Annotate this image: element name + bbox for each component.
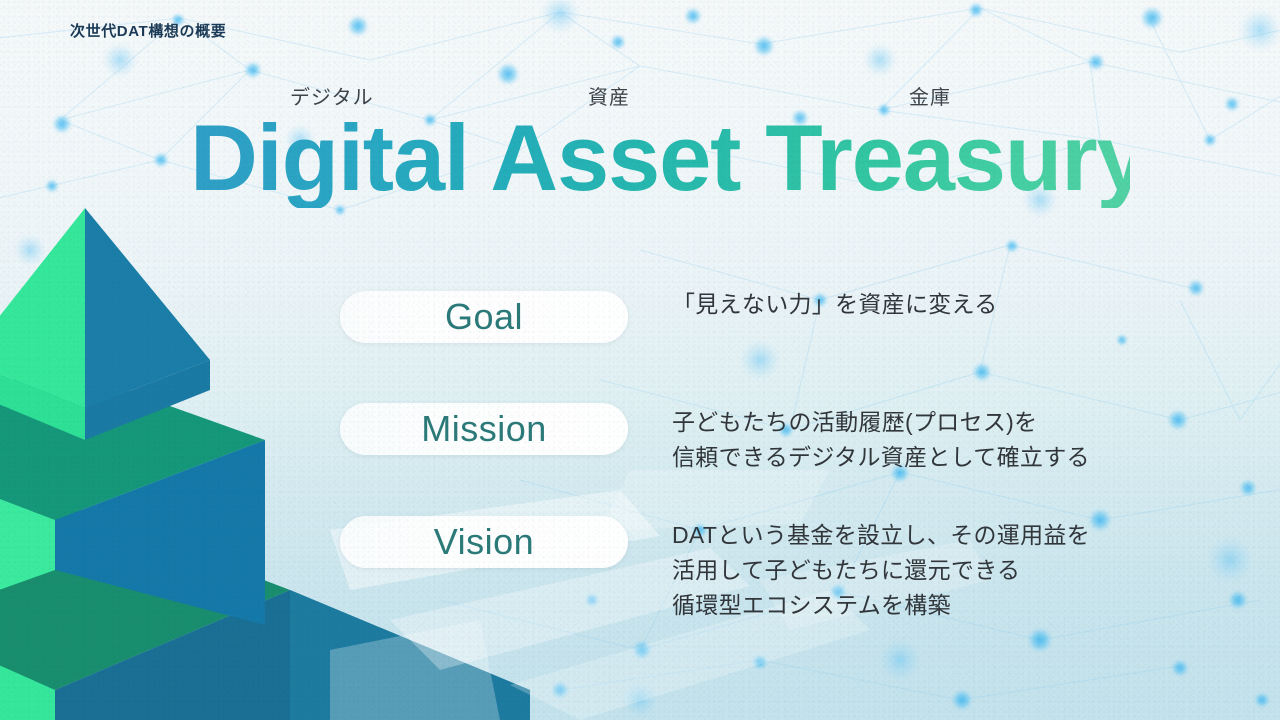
slide-root: 次世代DAT構想の概要 デジタル 資産 金庫 Digital Asset Tre… [0,0,1280,720]
background-grain-texture [0,0,1280,720]
